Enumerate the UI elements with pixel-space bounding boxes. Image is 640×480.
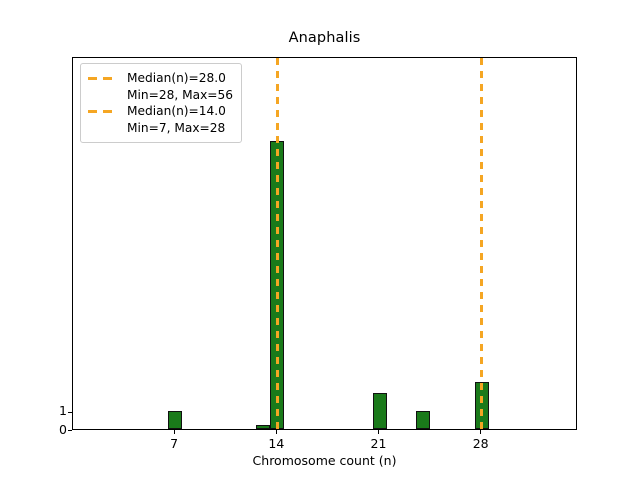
x-tick-label: 7 <box>144 436 204 451</box>
legend-label: Median(n)=28.0 <box>127 70 226 87</box>
legend-sublabel: Min=7, Max=28 <box>88 120 233 137</box>
chart-figure: Anaphalis 7142128 01 Chromosome count (n… <box>0 0 640 480</box>
legend-row: Median(n)=14.0 <box>88 103 233 120</box>
x-tick-mark <box>276 430 277 434</box>
x-axis-label: Chromosome count (n) <box>72 453 577 468</box>
histogram-bar <box>168 411 182 429</box>
x-tick-mark <box>378 430 379 434</box>
y-tick-label: 0 <box>59 424 67 436</box>
x-tick-label: 21 <box>349 436 409 451</box>
median-vline <box>480 58 483 429</box>
histogram-bar <box>256 425 270 429</box>
legend-sublabel: Min=28, Max=56 <box>88 87 233 104</box>
y-tick-mark <box>68 430 72 431</box>
dashed-line-icon <box>88 77 118 80</box>
legend-label: Median(n)=14.0 <box>127 103 226 120</box>
legend-row: Median(n)=28.0 <box>88 70 233 87</box>
legend-entry: Median(n)=14.0Min=7, Max=28 <box>88 103 233 136</box>
x-tick-mark <box>174 430 175 434</box>
y-tick-mark <box>68 412 72 413</box>
y-tick-label: 1 <box>59 405 67 417</box>
histogram-bar <box>373 393 387 429</box>
legend-entry: Median(n)=28.0Min=28, Max=56 <box>88 70 233 103</box>
histogram-bar <box>416 411 430 429</box>
x-tick-label: 28 <box>451 436 511 451</box>
chart-title: Anaphalis <box>72 30 577 46</box>
chart-legend: Median(n)=28.0Min=28, Max=56Median(n)=14… <box>80 63 242 143</box>
x-tick-label: 14 <box>246 436 306 451</box>
median-vline <box>276 58 279 429</box>
x-tick-mark <box>480 430 481 434</box>
dashed-line-icon <box>88 110 118 113</box>
